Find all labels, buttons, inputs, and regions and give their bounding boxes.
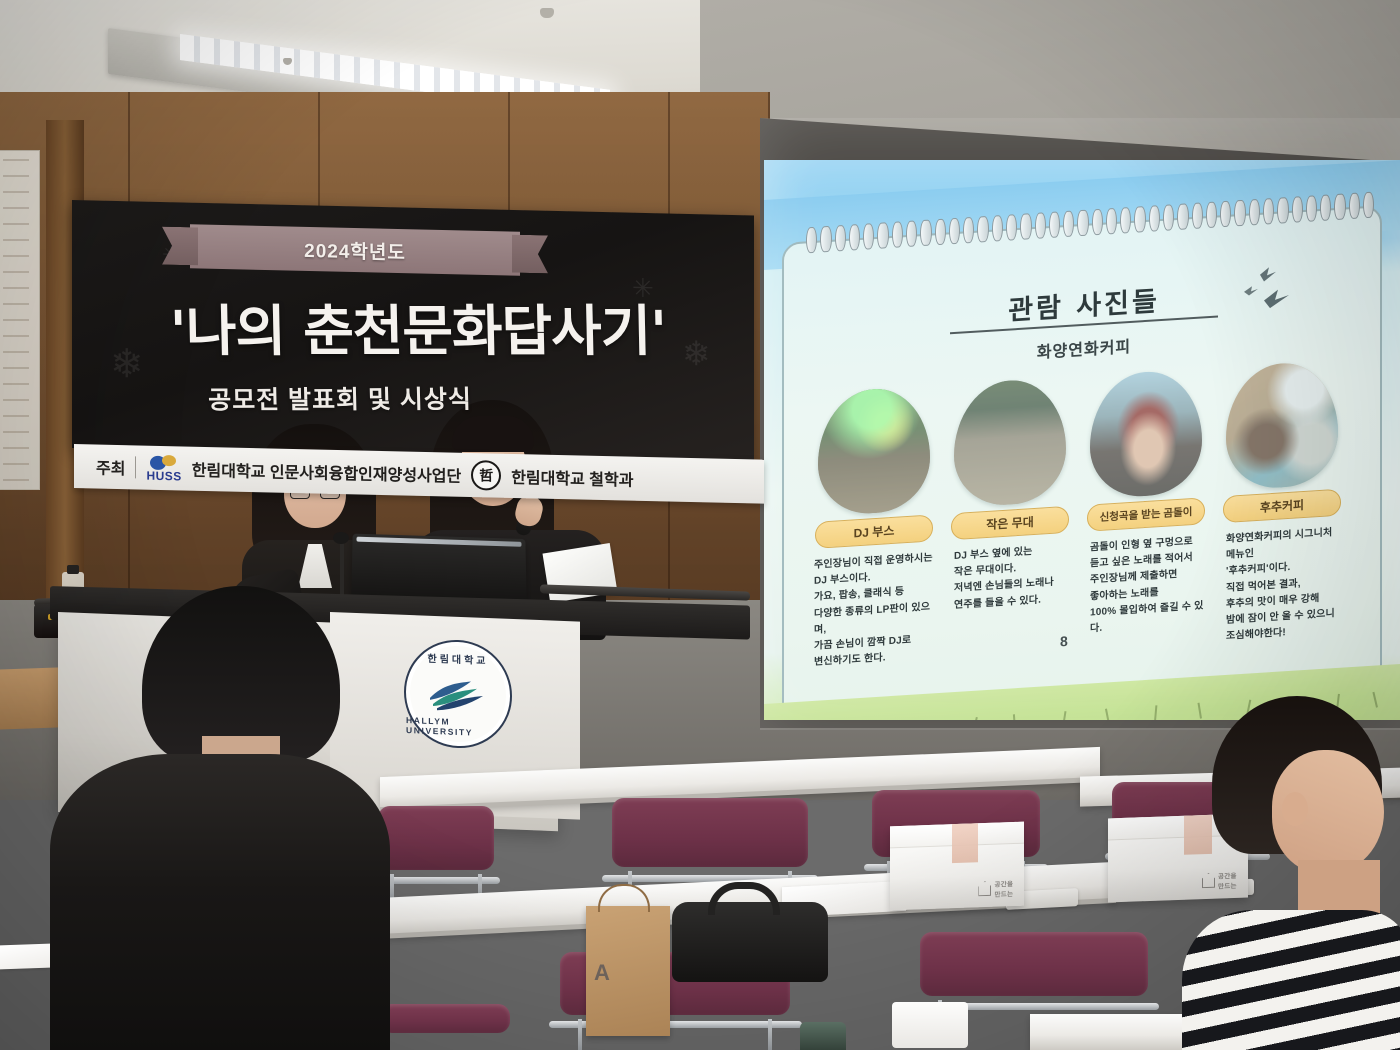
slide-cards-row: DJ 부스 주인장님이 직접 운영하시는 DJ 부스이다. 가요, 팝송, 클래…: [814, 359, 1354, 671]
seal-english-text: HALLYM UNIVERSITY: [406, 715, 510, 739]
card-description: 곰돌이 인형 옆 구멍으로 듣고 싶은 노래를 적어서 주인장님께 제출하면 좋…: [1090, 533, 1206, 637]
birds-icon: [1230, 262, 1310, 327]
audience-member-foreground-left: [44, 586, 394, 1050]
projection-screen: 관람 사진들 화양연화커피 DJ 부스 주인장님이 직접 운영하시는 DJ 부스…: [764, 160, 1400, 720]
card-label: 후추커피: [1223, 489, 1341, 523]
banner-ribbon-text: 2024학년도: [304, 235, 406, 264]
banner-ribbon: 2024학년도: [190, 224, 520, 275]
divider: [135, 456, 136, 478]
slide-card: DJ 부스 주인장님이 직접 운영하시는 DJ 부스이다. 가요, 팝송, 클래…: [814, 385, 934, 671]
bag-logo: A: [594, 960, 610, 986]
card-description: DJ 부스 옆에 있는 작은 무대이다. 저녁엔 손님들의 노래나 연주를 들을…: [954, 542, 1070, 614]
huss-logo-text: HUSS: [146, 469, 181, 482]
kraft-paper-bag: A: [586, 906, 670, 1036]
tumbler: [800, 1022, 846, 1050]
card-label: 작은 무대: [951, 506, 1069, 540]
card-label: DJ 부스: [815, 514, 933, 548]
slide-card: 작은 무대 DJ 부스 옆에 있는 작은 무대이다. 저녁엔 손님들의 노래나 …: [950, 377, 1070, 663]
gift-box-logo-icon: 공간을 만드는: [978, 878, 1013, 899]
slide-card: 신청곡을 받는 곰돌이 곰돌이 인형 옆 구멍으로 듣고 싶은 노래를 적어서 …: [1086, 368, 1206, 654]
podium-mic-head: [333, 532, 349, 544]
teddy-bear-photo: [1090, 368, 1202, 499]
chair: [380, 1004, 510, 1050]
banner-title: '나의 춘천문화답사기': [87, 286, 749, 366]
small-stage-photo: [954, 377, 1066, 508]
hallym-wave-mark-icon: [427, 674, 489, 714]
lecture-hall-photo: ❄ ❄ ✳ ✳ 2024학년도 '나의 춘천문화답사기' 공모전 발표회 및 시…: [0, 0, 1400, 1050]
huss-logo-icon: HUSS: [146, 454, 181, 482]
seal-korean-text: 한림대학교: [428, 650, 489, 667]
philosophy-seal-icon: 哲: [471, 460, 501, 491]
sponsor-1-name: 한림대학교 인문사회융합인재양성사업단: [192, 457, 461, 487]
card-description: 화양연화커피의 시그니처 메뉴인 '후추커피'이다. 직접 먹어본 결과, 후추…: [1226, 525, 1342, 646]
chair: [378, 806, 494, 906]
tissue-pack: [892, 1002, 968, 1048]
sprinkler-head: [540, 8, 554, 18]
gift-box: 공간을 만드는: [890, 822, 1024, 911]
card-label: 신청곡을 받는 곰돌이: [1087, 497, 1205, 531]
backpack: [672, 902, 828, 982]
banner-subtitle: 공모전 발표회 및 시상식: [130, 379, 551, 416]
slide-card: 후추커피 화양연화커피의 시그니처 메뉴인 '후추커피'이다. 직접 먹어본 결…: [1222, 360, 1342, 646]
gift-box-logo-text: 공간을 만드는: [994, 878, 1013, 899]
pepper-coffee-photo: [1226, 360, 1338, 491]
slide-page-number: 8: [1060, 633, 1068, 649]
sponsor-2-name: 한림대학교 철학과: [511, 464, 633, 491]
audience-member-striped-shirt: [1186, 696, 1400, 1050]
dj-booth-photo: [818, 386, 930, 517]
sponsor-label: 주최: [96, 454, 125, 479]
card-description: 주인장님이 직접 운영하시는 DJ 부스이다. 가요, 팝송, 클래식 등 다양…: [814, 550, 934, 671]
wall-scroll-artwork: [0, 150, 40, 490]
